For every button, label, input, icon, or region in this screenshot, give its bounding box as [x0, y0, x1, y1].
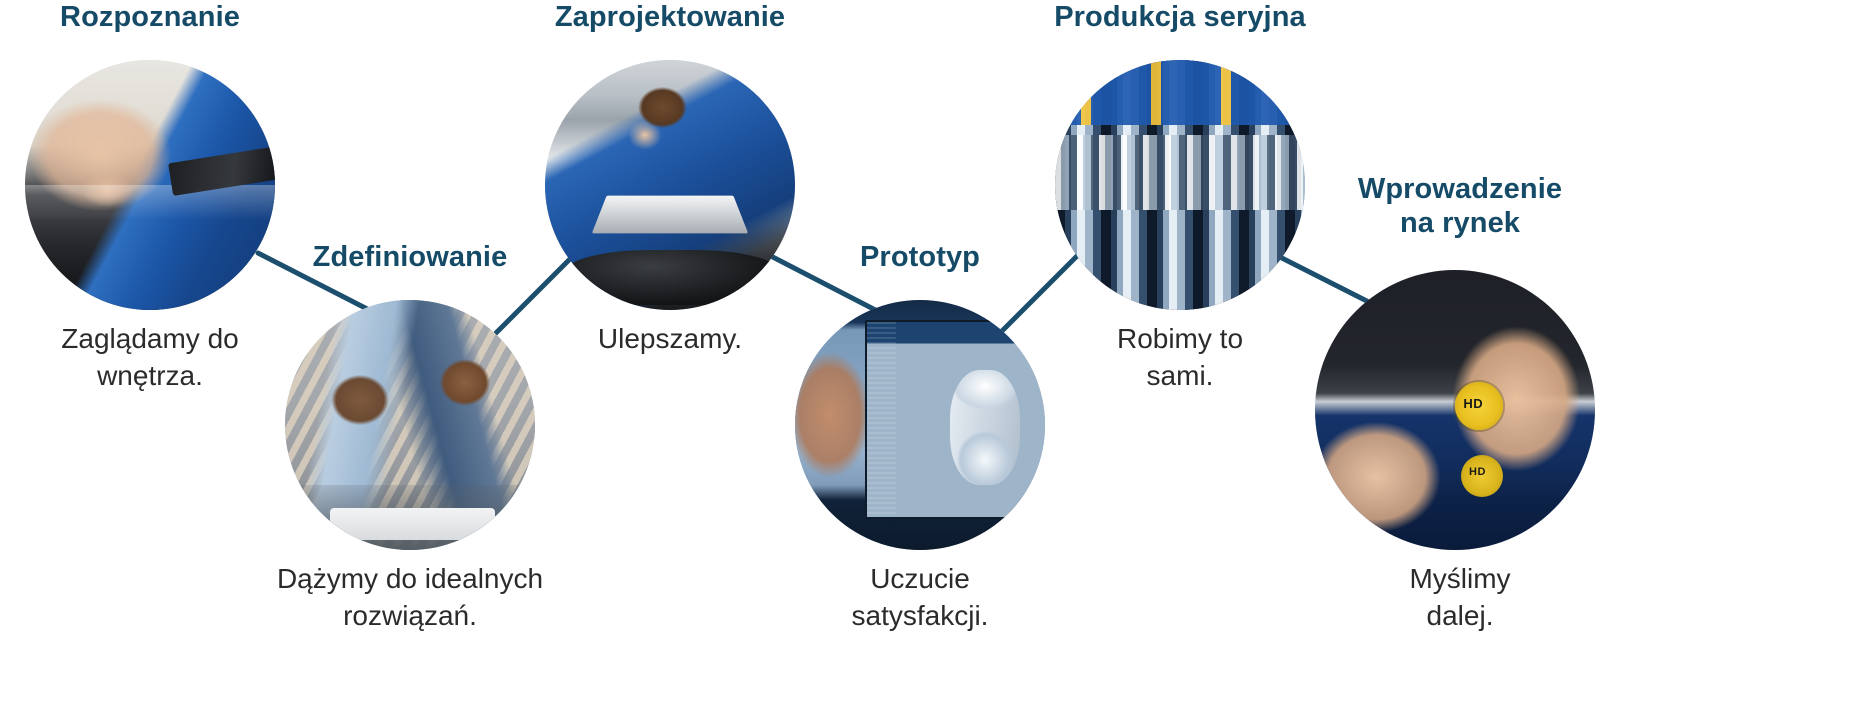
step-heading-zaprojektowanie: Zaprojektowanie [535, 0, 805, 34]
step-caption-zaprojektowanie: Ulepszamy. [530, 320, 810, 357]
step-heading-produkcja-seryjna: Produkcja seryjna [1040, 0, 1320, 34]
step-image-zaprojektowanie [545, 60, 795, 310]
step-caption-rozpoznanie: Zaglądamy do wnętrza. [10, 320, 290, 394]
step-image-wprowadzenie-na-rynek: HD HD [1315, 270, 1595, 550]
step-caption-prototyp: Uczucie satysfakcji. [780, 560, 1060, 634]
step-image-prototyp [795, 300, 1045, 550]
hd-sticker-label-primary: HD [1463, 396, 1483, 411]
step-caption-produkcja-seryjna: Robimy to sami. [1040, 320, 1320, 394]
step-heading-rozpoznanie: Rozpoznanie [25, 0, 275, 34]
hd-sticker-label-secondary: HD [1469, 466, 1486, 478]
step-caption-wprowadzenie-na-rynek: Myślimy dalej. [1330, 560, 1590, 634]
step-image-zdefiniowanie [285, 300, 535, 550]
process-diagram: Rozpoznanie Zaglądamy do wnętrza. Zdefin… [0, 0, 1869, 705]
step-image-produkcja-seryjna [1055, 60, 1305, 310]
step-caption-zdefiniowanie: Dążymy do idealnych rozwiązań. [250, 560, 570, 634]
step-image-rozpoznanie [25, 60, 275, 310]
step-heading-prototyp: Prototyp [810, 240, 1030, 274]
step-heading-zdefiniowanie: Zdefiniowanie [300, 240, 520, 274]
step-heading-wprowadzenie-na-rynek: Wprowadzenie na rynek [1330, 172, 1590, 240]
